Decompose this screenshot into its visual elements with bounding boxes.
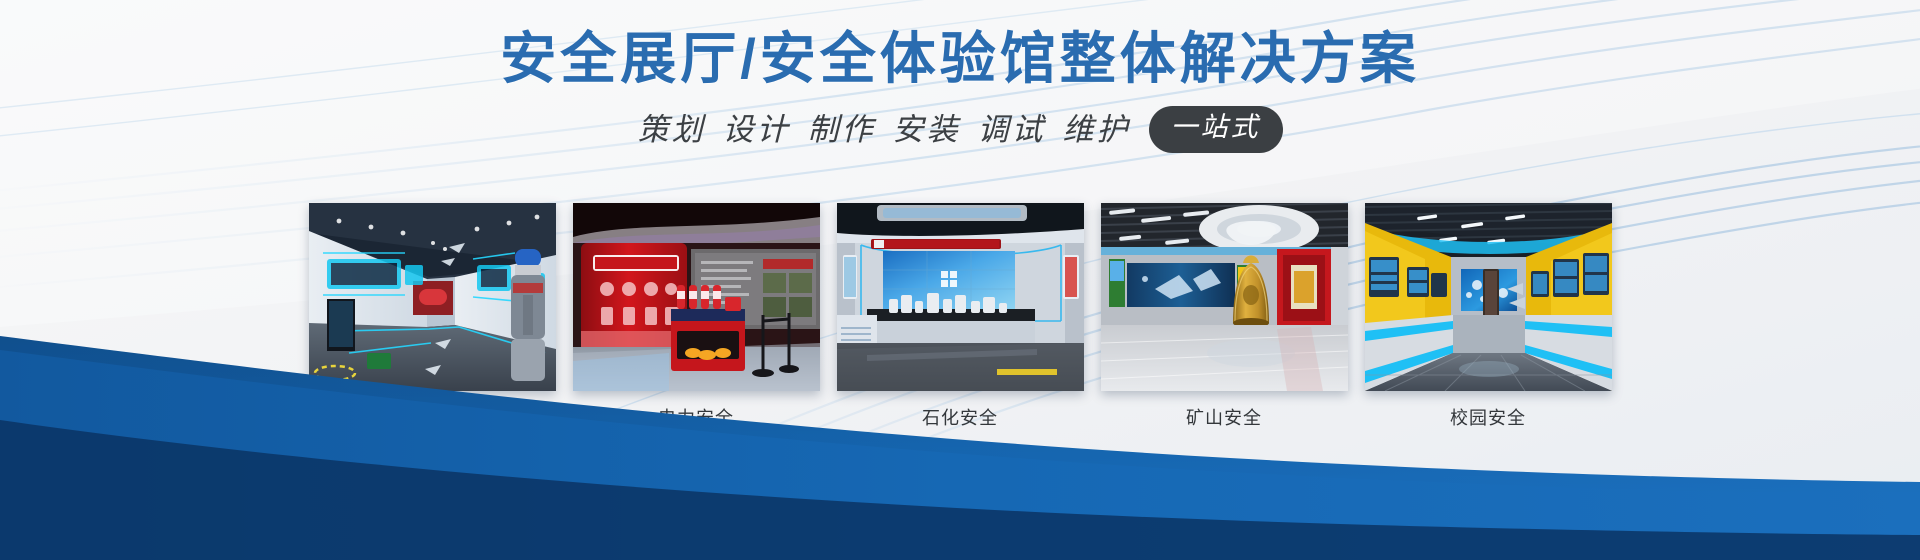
step-label-3: 安装 [893,112,961,147]
step-label-1: 设计 [723,112,791,147]
service-step-maintenance: 维护 [1063,111,1131,148]
service-steps-list: 策划 设计 制作 安装 调试 维护 [638,111,1131,148]
step-label-0: 策划 [638,112,706,147]
subtitle-row: 策划 设计 制作 安装 调试 维护 一站式 [0,92,1920,153]
service-step-production: 制作 [808,111,876,148]
service-step-debugging: 调试 [978,111,1046,148]
step-label-2: 制作 [808,112,876,147]
service-step-installation: 安装 [893,111,961,148]
safety-exhibition-banner: 安全展厅/安全体验馆整体解决方案 策划 设计 制作 安装 调试 维护 一站式 [0,0,1920,560]
service-step-planning: 策划 [638,111,706,148]
banner-text-block: 安全展厅/安全体验馆整体解决方案 策划 设计 制作 安装 调试 维护 一站式 [0,0,1920,153]
bottom-wave-decoration [0,260,1920,560]
service-step-design: 设计 [723,111,791,148]
page-title: 安全展厅/安全体验馆整体解决方案 [0,0,1920,92]
step-label-4: 调试 [978,112,1046,147]
status-badge-one-stop: 一站式 [1149,106,1283,153]
step-label-5: 维护 [1063,112,1131,147]
